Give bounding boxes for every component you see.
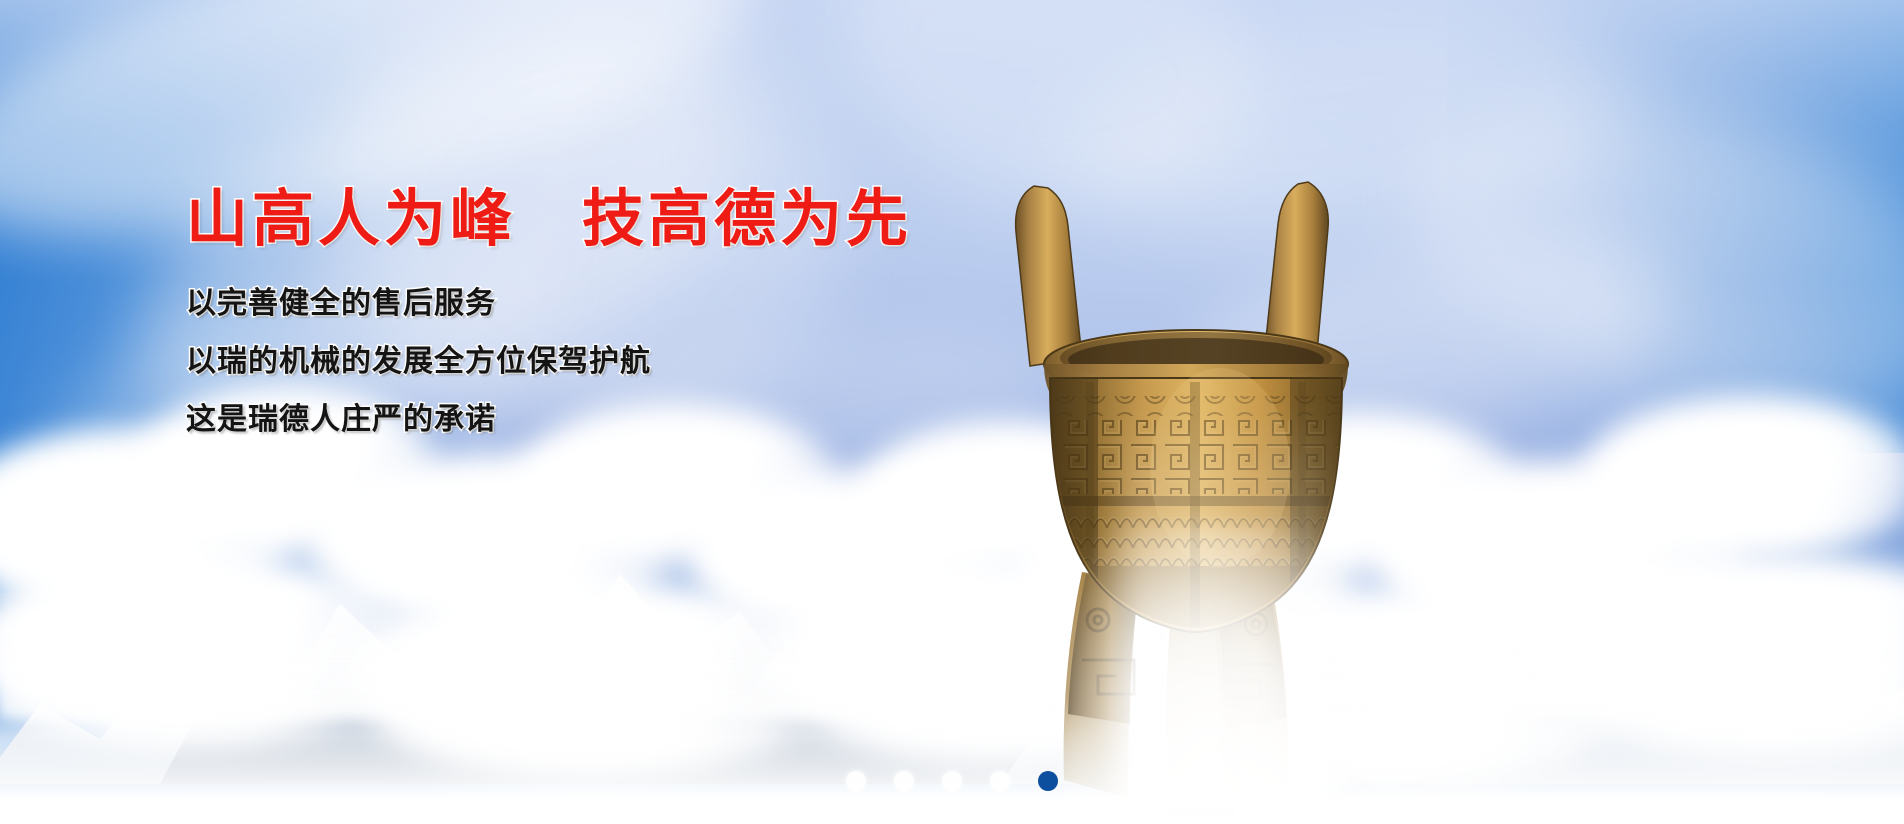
carousel-dot-4[interactable] <box>990 771 1010 791</box>
carousel-dot-5[interactable] <box>1038 771 1058 791</box>
carousel-dot-2[interactable] <box>894 771 914 791</box>
carousel-dot-1[interactable] <box>846 771 866 791</box>
carousel-dots[interactable] <box>846 771 1058 791</box>
banner-headline: 山高人为峰 技高德为先 <box>186 186 1066 253</box>
banner-copy-block: 山高人为峰 技高德为先 以完善健全的售后服务 以瑞的机械的发展全方位保驾护航 这… <box>186 186 1066 435</box>
banner-subline: 以瑞的机械的发展全方位保驾护航 <box>186 347 1066 377</box>
snow-mountain-icon <box>0 454 1904 784</box>
banner-subline: 这是瑞德人庄严的承诺 <box>186 405 1066 435</box>
banner-subline: 以完善健全的售后服务 <box>186 289 1066 319</box>
banner-subline-list: 以完善健全的售后服务 以瑞的机械的发展全方位保驾护航 这是瑞德人庄严的承诺 <box>186 289 1066 435</box>
hero-banner-slide: 山高人为峰 技高德为先 以完善健全的售后服务 以瑞的机械的发展全方位保驾护航 这… <box>0 0 1904 824</box>
carousel-dot-3[interactable] <box>942 771 962 791</box>
